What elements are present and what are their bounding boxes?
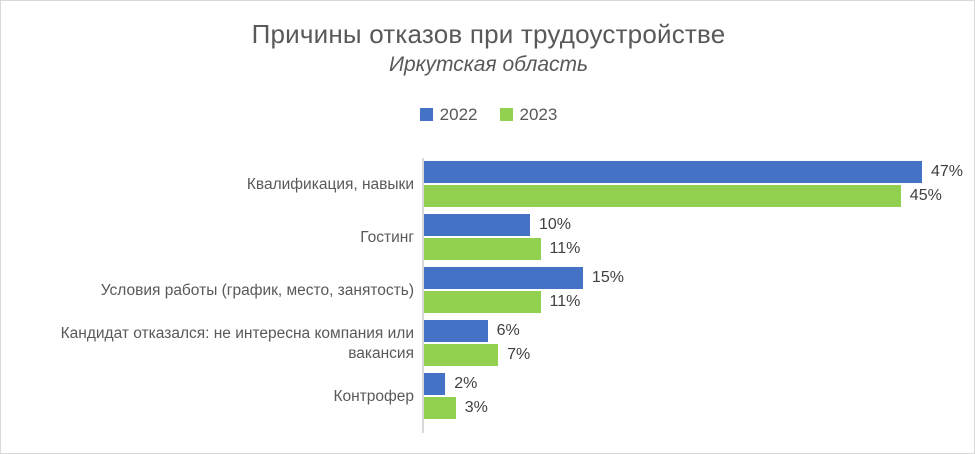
bar-2022-4[interactable]	[424, 373, 445, 395]
bar-row-2022-0: 47%	[424, 161, 963, 183]
bar-2023-3[interactable]	[424, 344, 498, 366]
category-label-0: Квалификация, навыки	[14, 158, 414, 211]
category-group-2: Условия работы (график, место, занятость…	[1, 264, 975, 317]
category-group-1: Гостинг 10% 11%	[1, 211, 975, 264]
legend-item-2023[interactable]: 2023	[500, 106, 558, 123]
bar-row-2023-4: 3%	[424, 397, 488, 419]
bar-2023-1[interactable]	[424, 238, 541, 260]
bar-2022-1[interactable]	[424, 214, 530, 236]
chart-container: Причины отказов при трудоустройстве Ирку…	[0, 0, 975, 454]
bar-value-2023-4: 3%	[456, 400, 488, 416]
legend-item-2022[interactable]: 2022	[420, 106, 478, 123]
bar-2022-3[interactable]	[424, 320, 488, 342]
bar-row-2023-3: 7%	[424, 344, 530, 366]
category-group-0: Квалификация, навыки 47% 45%	[1, 158, 975, 211]
category-group-3: Кандидат отказался: не интересна компани…	[1, 317, 975, 370]
chart-legend: 2022 2023	[1, 106, 975, 123]
bar-2023-2[interactable]	[424, 291, 541, 313]
plot-area: Квалификация, навыки 47% 45% Гостинг 10%	[1, 153, 975, 438]
bar-row-2022-1: 10%	[424, 214, 571, 236]
category-label-1: Гостинг	[14, 211, 414, 264]
bar-value-2022-1: 10%	[530, 217, 571, 233]
legend-label-2022: 2022	[440, 106, 478, 123]
bar-value-2022-4: 2%	[445, 376, 477, 392]
bar-row-2023-2: 11%	[424, 291, 580, 313]
category-group-4: Контрофер 2% 3%	[1, 370, 975, 423]
bar-value-2023-3: 7%	[498, 347, 530, 363]
chart-subtitle: Иркутская область	[1, 51, 975, 79]
legend-label-2023: 2023	[520, 106, 558, 123]
title-block: Причины отказов при трудоустройстве Ирку…	[1, 17, 975, 79]
bar-value-2023-1: 11%	[541, 241, 581, 257]
bar-value-2023-2: 11%	[541, 294, 581, 310]
category-label-3: Кандидат отказался: не интересна компани…	[14, 317, 414, 370]
bar-2022-0[interactable]	[424, 161, 922, 183]
bar-2022-2[interactable]	[424, 267, 583, 289]
legend-swatch-2022	[420, 108, 433, 121]
bar-2023-4[interactable]	[424, 397, 456, 419]
bar-value-2022-2: 15%	[583, 270, 624, 286]
bar-row-2022-4: 2%	[424, 373, 477, 395]
bar-value-2022-3: 6%	[488, 323, 520, 339]
category-label-2: Условия работы (график, место, занятость…	[14, 264, 414, 317]
chart-title: Причины отказов при трудоустройстве	[1, 17, 975, 51]
legend-swatch-2023	[500, 108, 513, 121]
bar-row-2023-0: 45%	[424, 185, 942, 207]
bar-row-2022-2: 15%	[424, 267, 624, 289]
bar-value-2022-0: 47%	[922, 164, 963, 180]
bar-value-2023-0: 45%	[901, 188, 942, 204]
category-label-4: Контрофер	[14, 370, 414, 423]
bar-2023-0[interactable]	[424, 185, 901, 207]
bar-row-2023-1: 11%	[424, 238, 580, 260]
bar-row-2022-3: 6%	[424, 320, 520, 342]
